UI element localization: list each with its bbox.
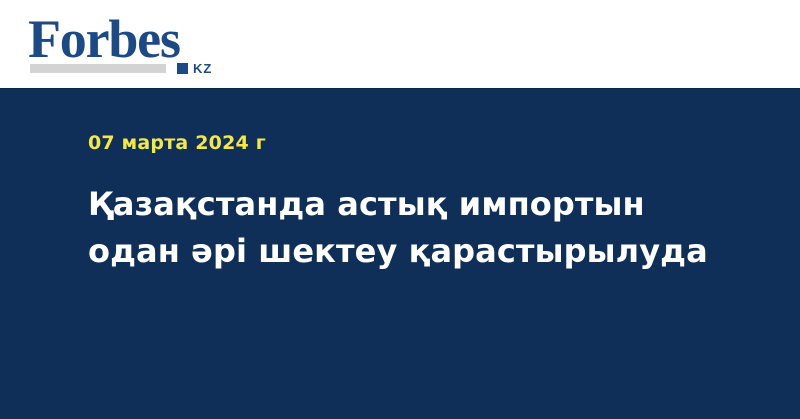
forbes-wordmark: Forbes: [28, 12, 180, 66]
article-share-card: Forbes KZ 07 марта 2024 г Қазақстанда ас…: [0, 0, 800, 419]
brand-locale-label: KZ: [193, 62, 212, 75]
publish-date: 07 марта 2024 г: [88, 132, 266, 154]
forbes-kz-logo[interactable]: Forbes KZ: [28, 12, 228, 78]
article-headline: Қазақстанда астық импортын одан әрі шект…: [88, 181, 748, 275]
hero-panel: 07 марта 2024 г Қазақстанда астық импорт…: [0, 88, 800, 419]
brand-square-icon: [177, 63, 188, 74]
site-header: Forbes KZ: [0, 0, 800, 88]
headline-line-2: одан әрі шектеу қарастырылуда: [88, 228, 748, 275]
headline-line-1: Қазақстанда астық импортын: [88, 181, 748, 228]
brand-rule-divider: [30, 64, 166, 73]
